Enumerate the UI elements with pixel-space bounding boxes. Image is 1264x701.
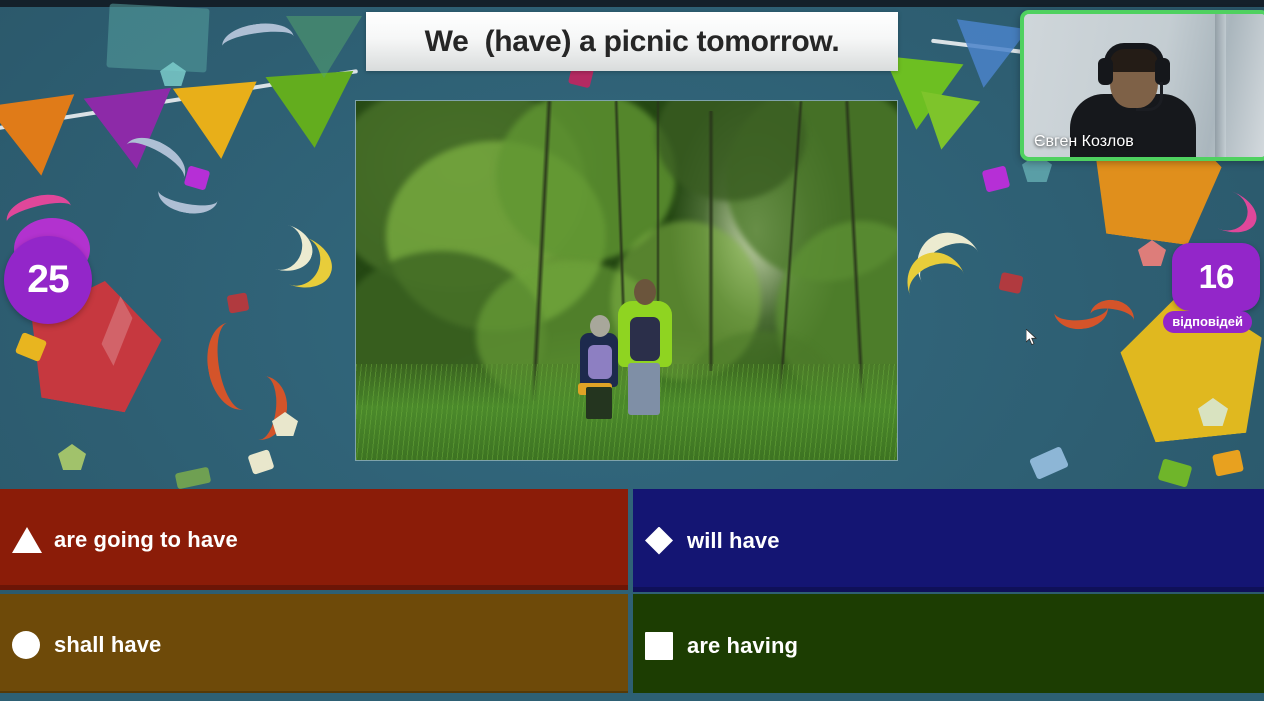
confetti-square-teal-top [106, 3, 209, 72]
headphone-earcup-right [1155, 58, 1170, 85]
hiker-child-legs [586, 387, 612, 419]
answer-option-label: will have [687, 528, 780, 554]
confetti-square-red-left [227, 292, 250, 313]
hiker-adult-legs [628, 363, 660, 415]
answer-option-circle[interactable]: shall have [0, 594, 628, 696]
circle-icon [12, 631, 40, 659]
webcam-wall-edge [1215, 14, 1226, 157]
webcam-participant-name: Євген Козлов [1034, 133, 1134, 151]
bunting-flag-blue-right [948, 19, 1028, 92]
bunting-flag-lime-right [912, 91, 980, 155]
headphone-earcup-left [1098, 58, 1113, 85]
grass-foreground [356, 364, 897, 460]
diamond-icon [645, 527, 673, 555]
bunting-flag-green [266, 71, 359, 151]
answer-option-label: are having [687, 633, 798, 659]
question-media-image [355, 100, 898, 461]
answer-option-triangle[interactable]: are going to have [0, 489, 628, 590]
headset-microphone-boom [1136, 82, 1163, 111]
square-icon [645, 632, 673, 660]
timer-value: 25 [27, 258, 68, 302]
question-timer: 25 [4, 236, 92, 324]
answer-count-badge: 16 [1172, 243, 1260, 311]
answer-grid: are going to have will have shall have a… [0, 489, 1264, 701]
webcam-tile-presenter[interactable]: Євген Козлов [1020, 10, 1264, 161]
answer-option-label: shall have [54, 632, 161, 658]
answer-count-label: відповідей [1163, 311, 1252, 333]
bunting-flag-orange [0, 94, 85, 182]
tree-trunk [708, 111, 714, 371]
bottom-letterbox-bar [0, 693, 1264, 701]
answer-option-label: are going to have [54, 527, 238, 553]
question-banner: We (have) a picnic tomorrow. [366, 12, 898, 71]
tree-trunk [656, 101, 660, 301]
answer-count-value: 16 [1199, 258, 1234, 296]
answer-option-square[interactable]: are having [633, 594, 1264, 698]
triangle-icon [12, 527, 42, 553]
hiker-child-head [590, 315, 610, 337]
hiker-child-backpack [588, 345, 612, 379]
bunting-flag-yellow [173, 81, 263, 162]
kahoot-question-screen: We (have) a picnic tomorrow. [0, 0, 1264, 701]
answer-option-diamond[interactable]: will have [633, 489, 1264, 592]
bunting-flag-lime-topright [286, 16, 362, 78]
hiker-adult-backpack-top [630, 317, 660, 361]
top-letterbox-bar [0, 0, 1264, 7]
question-text: We (have) a picnic tomorrow. [425, 25, 840, 59]
hiker-adult-head [634, 279, 656, 305]
